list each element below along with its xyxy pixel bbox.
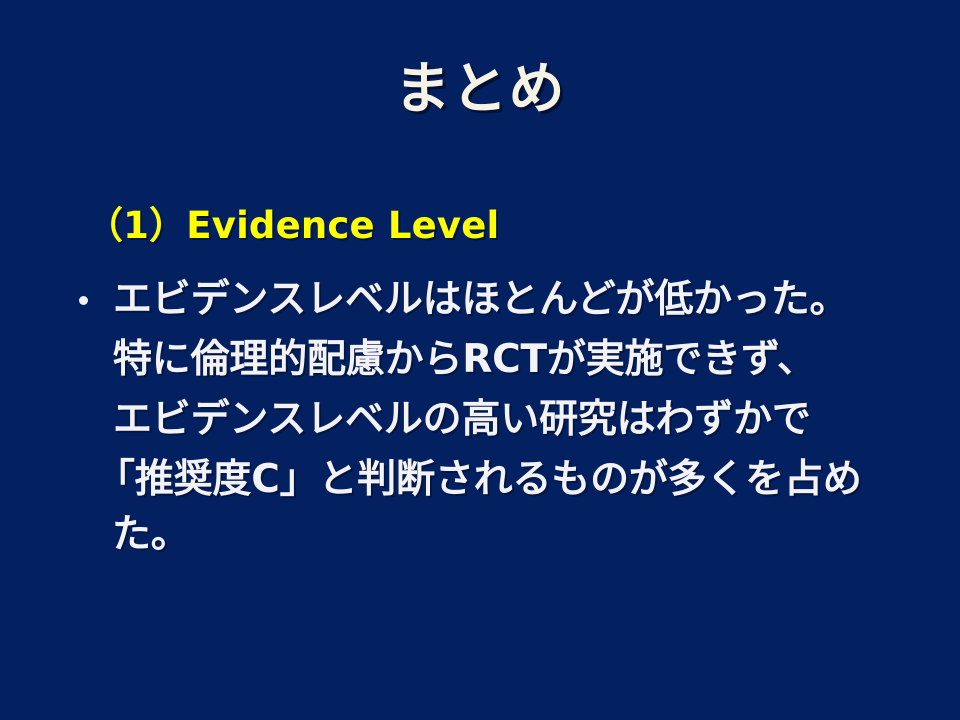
list-item-label: エビデンスレベルの高い研究はわずかで [113,390,811,450]
list-item: 特に倫理的配慮からRCTが実施できず、 [0,330,960,390]
list-item: エビデンスレベルはほとんどが低かった。 [0,270,960,330]
bullet-list: エビデンスレベルはほとんどが低かった。 特に倫理的配慮からRCTが実施できず、 … [0,270,960,564]
list-item: エビデンスレベルの高い研究はわずかで [0,390,960,450]
list-item-label: 「推奨度C」と判断されるものが多くを占め [96,450,862,510]
bullet-dot-icon [79,296,88,305]
page-title: まとめ [0,58,960,122]
section-heading-evidence-level: （1）Evidence Level [86,206,499,247]
list-item: 「推奨度C」と判断されるものが多くを占め [0,450,960,510]
list-item: た。 [0,510,960,564]
list-item-label: た。 [112,510,190,560]
slide-canvas: まとめ （1）Evidence Level エビデンスレベルはほとんどが低かった… [0,0,960,720]
list-item-label: 特に倫理的配慮からRCTが実施できず、 [113,330,816,390]
list-item-label: エビデンスレベルはほとんどが低かった。 [113,270,848,330]
slide-body: （1）Evidence Level エビデンスレベルはほとんどが低かった。 特に… [0,206,960,606]
